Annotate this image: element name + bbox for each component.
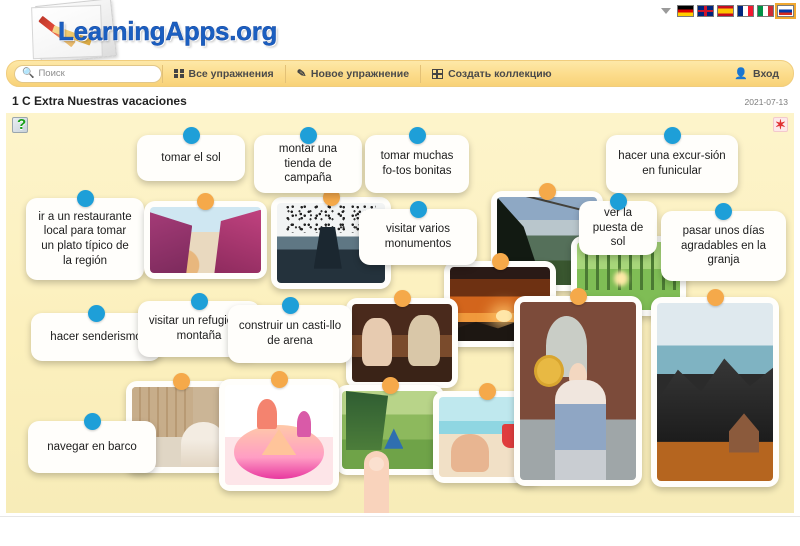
answer-card-label: navegar en barco xyxy=(47,440,137,455)
nav-all-exercises-label: Все упражнения xyxy=(189,68,274,80)
page-title: 1 C Extra Nuestras vacaciones xyxy=(12,94,187,108)
answer-card-label: montar una tienda de campaña xyxy=(264,142,352,186)
pair-marker-dot xyxy=(707,289,724,306)
answer-card-text[interactable]: tomar muchas fo-tos bonitas xyxy=(365,135,469,193)
answer-card-label: pasar unos días agradables en la granja xyxy=(671,224,776,268)
answer-card-text[interactable]: montar una tienda de campaña xyxy=(254,135,362,193)
answer-card-text[interactable]: pasar unos días agradables en la granja xyxy=(661,211,786,281)
flag-de-icon[interactable] xyxy=(677,5,694,17)
flag-gb-icon[interactable] xyxy=(697,5,714,17)
answer-card-label: hacer una excur-sión en funicular xyxy=(616,149,728,178)
nav-create-collection-label: Создать коллекцию xyxy=(448,68,552,80)
pair-marker-dot xyxy=(410,201,427,218)
pencil-icon: ✎ xyxy=(296,66,307,80)
pair-marker-dot xyxy=(570,288,587,305)
pair-marker-dot xyxy=(715,203,732,220)
pair-marker-dot xyxy=(191,293,208,310)
answer-card-image[interactable] xyxy=(514,296,642,486)
answer-card-photo xyxy=(342,391,438,469)
nav-create-collection[interactable]: Создать коллекцию xyxy=(421,61,563,86)
exercise-date: 2021-07-13 xyxy=(745,97,788,107)
learningapps-page: LearningApps.org 🔍 Поиск Все упражнения … xyxy=(0,0,800,546)
pair-marker-dot xyxy=(382,377,399,394)
answer-card-photo xyxy=(657,303,773,481)
answer-card-text[interactable]: navegar en barco xyxy=(28,421,156,473)
main-navbar: 🔍 Поиск Все упражнения ✎ Новое упражнени… xyxy=(6,60,794,87)
pair-marker-dot xyxy=(77,190,94,207)
pair-marker-dot xyxy=(271,371,288,388)
answer-card-text[interactable]: construir un casti-llo de arena xyxy=(228,305,352,363)
language-selector[interactable] xyxy=(661,5,794,17)
flag-es-icon[interactable] xyxy=(717,5,734,17)
tourist-face xyxy=(569,363,588,391)
answer-card-text[interactable]: tomar el sol xyxy=(137,135,245,181)
answer-card-photo xyxy=(520,302,636,480)
answer-card-photo xyxy=(150,207,261,273)
flag-it-icon[interactable] xyxy=(757,5,774,17)
nav-new-exercise[interactable]: ✎ Новое упражнение xyxy=(286,61,420,86)
pair-marker-dot xyxy=(610,193,627,210)
answer-card-label: ir a un restaurante local para tomar un … xyxy=(36,210,134,269)
answer-card-image[interactable] xyxy=(336,385,444,475)
pair-marker-dot xyxy=(197,193,214,210)
flag-fr-icon[interactable] xyxy=(737,5,754,17)
sandcastle-child xyxy=(297,411,311,437)
help-question-icon[interactable]: ? xyxy=(12,117,28,133)
pair-marker-dot xyxy=(409,127,426,144)
grid-icon xyxy=(174,69,184,79)
login-label: Вход xyxy=(753,68,779,80)
answer-card-text[interactable]: ver la puesta de sol xyxy=(579,201,657,255)
pair-marker-dot xyxy=(664,127,681,144)
answer-card-text[interactable]: ir a un restaurante local para tomar un … xyxy=(26,198,144,280)
answer-card-label: ver la puesta de sol xyxy=(589,206,647,250)
search-input[interactable]: 🔍 Поиск xyxy=(14,65,162,83)
pair-marker-dot xyxy=(282,297,299,314)
answer-card-label: visitar varios monumentos xyxy=(369,222,467,251)
pair-marker-dot xyxy=(492,253,509,270)
search-icon: 🔍 xyxy=(22,69,34,79)
answer-card-photo xyxy=(225,385,333,485)
answer-card-label: tomar muchas fo-tos bonitas xyxy=(375,149,459,178)
user-icon: 👤 xyxy=(734,67,748,80)
pair-marker-dot xyxy=(479,383,496,400)
tourist-hat xyxy=(534,355,564,387)
pair-marker-dot xyxy=(84,413,101,430)
pair-marker-dot xyxy=(183,127,200,144)
login-button[interactable]: 👤 Вход xyxy=(734,67,793,80)
exercise-header: 1 C Extra Nuestras vacaciones 2021-07-13 xyxy=(0,87,800,113)
answer-card-image[interactable] xyxy=(346,298,458,388)
fullscreen-icon[interactable]: ✶ xyxy=(773,117,788,132)
pair-marker-dot xyxy=(394,290,411,307)
answer-card-text[interactable]: visitar varios monumentos xyxy=(359,209,477,265)
answer-card-image[interactable] xyxy=(144,201,267,279)
answer-card-label: construir un casti-llo de arena xyxy=(238,319,342,348)
answer-card-image[interactable] xyxy=(651,297,779,487)
flag-ru-icon[interactable] xyxy=(777,5,794,17)
pair-marker-dot xyxy=(539,183,556,200)
answer-card-label: hacer senderismo xyxy=(50,330,141,345)
nav-new-exercise-label: Новое упражнение xyxy=(311,68,409,80)
pair-marker-dot xyxy=(173,373,190,390)
pair-marker-dot xyxy=(88,305,105,322)
answer-card-text[interactable]: hacer una excur-sión en funicular xyxy=(606,135,738,193)
site-logo[interactable]: LearningApps.org xyxy=(10,2,300,58)
search-placeholder: Поиск xyxy=(38,68,64,79)
answer-card-image[interactable] xyxy=(219,379,339,491)
collection-icon xyxy=(432,69,443,79)
answer-card-photo xyxy=(352,304,452,382)
nav-all-exercises[interactable]: Все упражнения xyxy=(163,61,285,86)
sandcastle-mound xyxy=(262,429,297,455)
logo-text: LearningApps.org xyxy=(58,16,277,47)
chevron-down-icon[interactable] xyxy=(661,8,671,14)
exercise-canvas[interactable]: ? ✶ tomar el solmontar una tienda de cam… xyxy=(6,113,794,513)
answer-card-label: tomar el sol xyxy=(161,151,220,166)
site-header: LearningApps.org xyxy=(0,0,800,60)
page-footer xyxy=(0,516,800,532)
pair-marker-dot xyxy=(300,127,317,144)
